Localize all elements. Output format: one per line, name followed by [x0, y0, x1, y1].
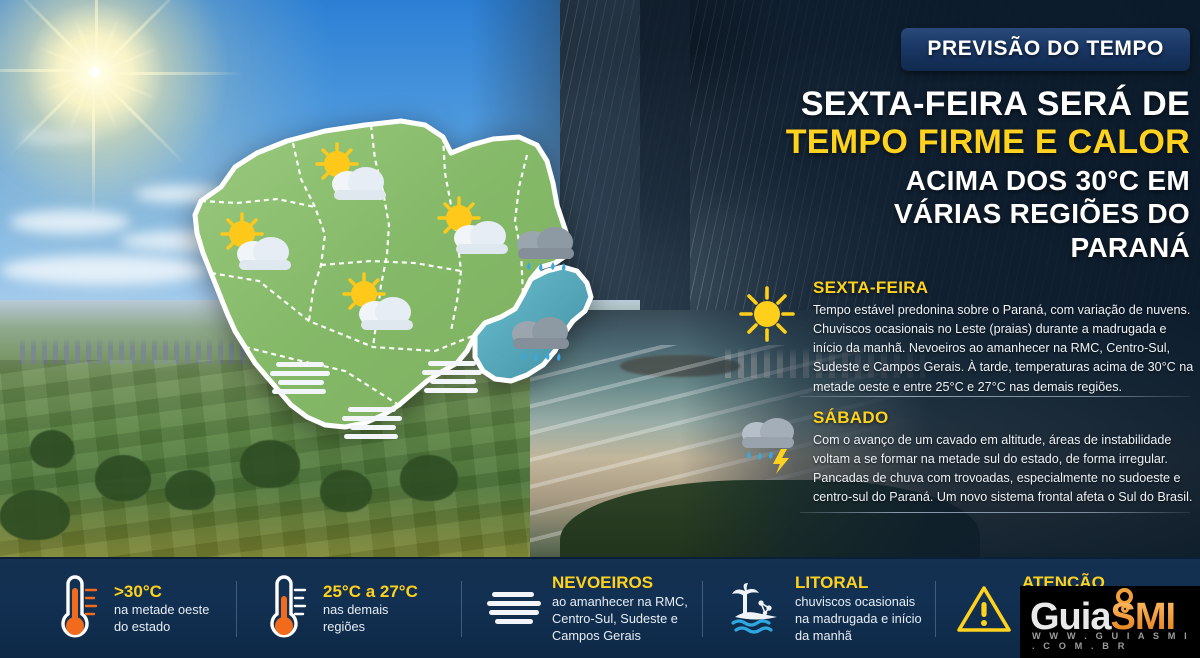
- fog-icon: [420, 357, 486, 402]
- forecast-body: Tempo estável predonina sobre o Paraná, …: [813, 301, 1195, 397]
- bottom-item-fog: NEVOEIROS ao amanhecer na RMC, Centro-Su…: [462, 559, 702, 658]
- sun-ray: [95, 0, 98, 72]
- bottom-summary-bar: >30°C na metade oeste do estado: [0, 557, 1200, 658]
- bottom-item-title: NEVOEIROS: [552, 573, 688, 593]
- fog-icon: [486, 587, 542, 631]
- bottom-item-title: 25°C a 27°C: [323, 582, 418, 602]
- page-title: SEXTA-FEIRA SERÁ DE TEMPO FIRME E CALOR …: [770, 71, 1190, 265]
- bottom-item-line1: na metade oeste: [114, 601, 209, 618]
- rain-cloud-icon: [508, 312, 574, 375]
- sun-icon: [735, 282, 799, 346]
- bottom-item-temp-max: >30°C na metade oeste do estado: [0, 559, 236, 658]
- thermometer-icon: [261, 574, 311, 644]
- headline-line-3: ACIMA DOS 30°C EM: [770, 162, 1190, 198]
- forecast-saturday: SÁBADO Com o avanço de um cavado em alti…: [735, 408, 1195, 508]
- headline-line-1: SEXTA-FEIRA SERÁ DE: [770, 85, 1190, 123]
- rain-cloud-icon: [513, 222, 579, 285]
- bottom-item-line3: Campos Gerais: [552, 627, 688, 644]
- cloud-wisp: [18, 130, 98, 144]
- bottom-item-line1: ao amanhecer na RMC,: [552, 593, 688, 610]
- palm-island-icon: [727, 583, 785, 635]
- infographic-canvas: PREVISÃO DO TEMPO SEXTA-FEIRA SERÁ DE TE…: [0, 0, 1200, 658]
- bottom-item-line2: regiões: [323, 618, 418, 635]
- forecast-title: SÁBADO: [813, 408, 1195, 428]
- headline-block: PREVISÃO DO TEMPO SEXTA-FEIRA SERÁ DE TE…: [770, 28, 1190, 265]
- forecast-friday: SEXTA-FEIRA Tempo estável predonina sobr…: [735, 278, 1195, 397]
- bottom-item-text: NEVOEIROS ao amanhecer na RMC, Centro-Su…: [552, 573, 688, 644]
- bottom-item-line3: da manhã: [795, 627, 922, 644]
- forecast-text-wrap: SEXTA-FEIRA Tempo estável predonina sobr…: [813, 278, 1195, 397]
- thermometer-icon: [52, 574, 102, 644]
- sun-cloud-icon: [432, 196, 514, 263]
- cloud-wisp: [10, 210, 130, 234]
- bottom-item-line2: do estado: [114, 618, 209, 635]
- fog-icon: [268, 358, 334, 403]
- tree: [0, 490, 70, 540]
- sun-cloud-icon: [337, 272, 419, 339]
- sun-cloud-icon: [310, 142, 392, 209]
- sun-ray: [92, 72, 95, 222]
- tree: [400, 455, 458, 501]
- divider: [800, 396, 1190, 397]
- headline-line-4: VÁRIAS REGIÕES DO PARANÁ: [770, 197, 1190, 264]
- bottom-item-line1: nas demais: [323, 601, 418, 618]
- sun-cloud-icon: [215, 212, 297, 279]
- guiasmi-logo[interactable]: GuiaSMI W W W . G U I A S M I . C O M . …: [1020, 586, 1200, 658]
- logo-url: W W W . G U I A S M I . C O M . B R: [1032, 631, 1200, 651]
- warning-triangle-icon: [956, 584, 1012, 634]
- divider: [800, 512, 1190, 513]
- bottom-item-title: LITORAL: [795, 573, 922, 593]
- sun-ray: [95, 72, 245, 75]
- forecast-title: SEXTA-FEIRA: [813, 278, 1195, 298]
- thunderstorm-icon: [735, 412, 799, 476]
- forecast-badge: PREVISÃO DO TEMPO: [901, 28, 1190, 71]
- bottom-item-line2: na madrugada e início: [795, 610, 922, 627]
- tree: [95, 455, 151, 501]
- headline-line-2: TEMPO FIRME E CALOR: [770, 123, 1190, 161]
- tree: [165, 470, 215, 510]
- bottom-item-coast: LITORAL chuviscos ocasionais na madrugad…: [703, 559, 935, 658]
- bottom-item-title: >30°C: [114, 582, 209, 602]
- bottom-item-temp-range: 25°C a 27°C nas demais regiões: [237, 559, 461, 658]
- forecast-body: Com o avanço de um cavado em altitude, á…: [813, 431, 1195, 508]
- sun-ray: [0, 69, 95, 72]
- bottom-item-line2: Centro-Sul, Sudeste e: [552, 610, 688, 627]
- tree: [30, 430, 74, 468]
- forecast-text-wrap: SÁBADO Com o avanço de um cavado em alti…: [813, 408, 1195, 508]
- bottom-item-text: 25°C a 27°C nas demais regiões: [323, 582, 418, 636]
- bottom-item-line1: chuviscos ocasionais: [795, 593, 922, 610]
- bottom-item-text: LITORAL chuviscos ocasionais na madrugad…: [795, 573, 922, 644]
- fog-icon: [340, 403, 406, 448]
- bottom-item-text: >30°C na metade oeste do estado: [114, 582, 209, 636]
- tree: [320, 470, 372, 512]
- sun-core: [90, 67, 100, 77]
